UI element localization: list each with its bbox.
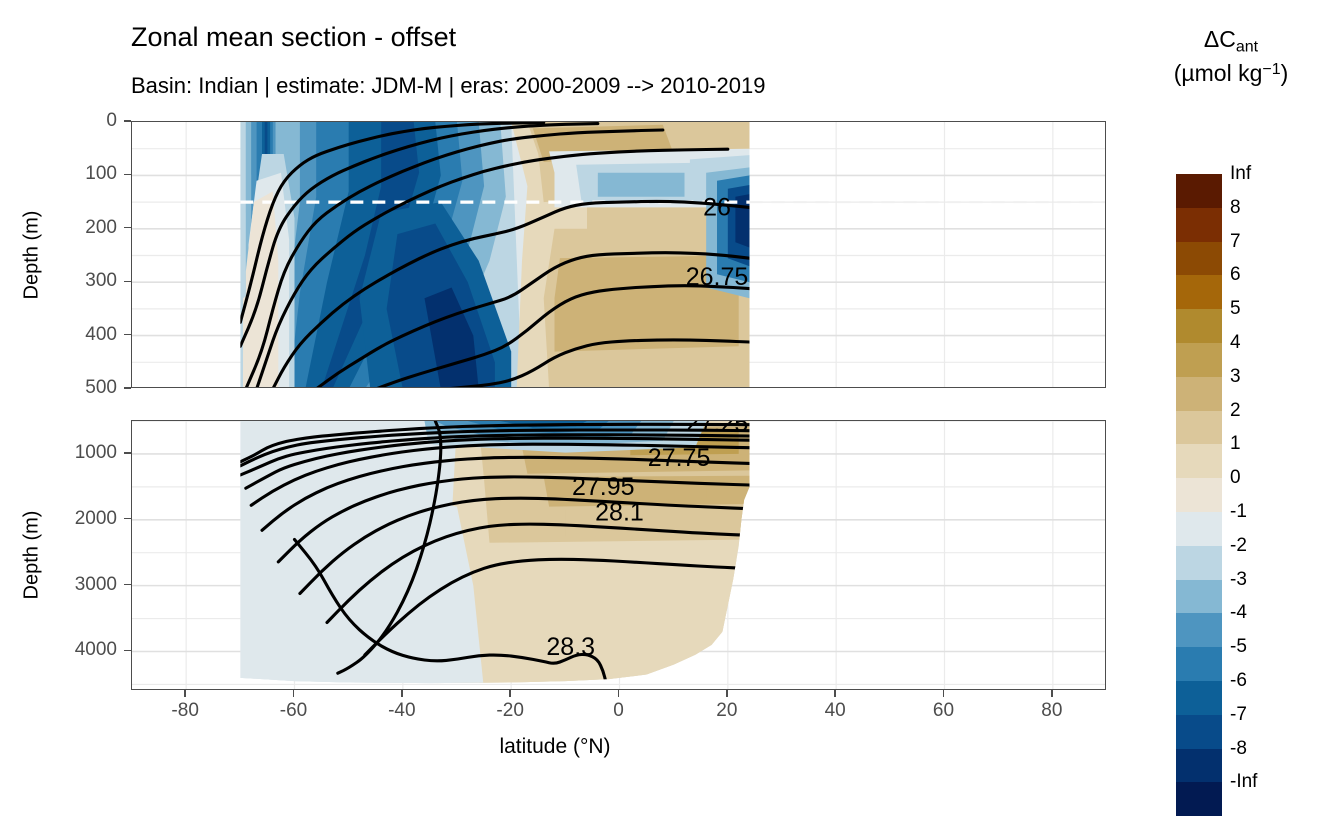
y-tick-lower: [124, 452, 131, 453]
legend-units-exponent: −1: [1262, 60, 1280, 77]
x-tick: [1051, 690, 1052, 697]
legend-label: -Inf: [1230, 771, 1257, 793]
legend-label: -3: [1230, 569, 1247, 591]
y-tick-label-lower: 4000: [0, 639, 117, 661]
panel-upper-depth: 2626.75: [131, 121, 1106, 388]
legend-label: 2: [1230, 400, 1241, 422]
y-tick-upper: [124, 174, 131, 175]
page-title: Zonal mean section - offset: [131, 22, 456, 53]
legend-label: -6: [1230, 670, 1247, 692]
y-axis-title-upper: Depth (m): [21, 210, 44, 299]
contour-label: 27.95: [572, 473, 635, 501]
legend-swatch: [1176, 647, 1222, 681]
y-tick-label-upper: 400: [0, 324, 117, 346]
chart-subtitle: Basin: Indian | estimate: JDM-M | eras: …: [131, 73, 765, 99]
legend-label: 0: [1230, 467, 1241, 489]
y-axis-title-lower: Depth (m): [21, 511, 44, 600]
y-tick-upper: [124, 387, 131, 388]
legend-label: 8: [1230, 197, 1241, 219]
contour-band: [598, 173, 685, 197]
legend-label: -7: [1230, 704, 1247, 726]
legend-title-delta: ΔC: [1204, 26, 1236, 52]
legend-swatch: [1176, 343, 1222, 377]
x-tick-label: -60: [280, 700, 307, 722]
legend-swatch: [1176, 309, 1222, 343]
legend-swatch: [1176, 613, 1222, 647]
legend-swatch: [1176, 242, 1222, 276]
y-tick-lower: [124, 518, 131, 519]
contour-label: 28.3: [546, 633, 595, 661]
x-tick: [401, 690, 402, 697]
y-tick-label-upper: 200: [0, 217, 117, 239]
legend-swatch: [1176, 580, 1222, 614]
y-tick-label-upper: 100: [0, 163, 117, 185]
y-tick-upper: [124, 281, 131, 282]
legend-label: -5: [1230, 636, 1247, 658]
legend-label: -1: [1230, 501, 1247, 523]
upper-field-group: [240, 122, 749, 388]
x-tick: [943, 690, 944, 697]
x-tick-label: -40: [388, 700, 415, 722]
x-axis-title: latitude (°N): [0, 735, 1110, 759]
legend-label: -2: [1230, 535, 1247, 557]
y-tick-label-lower: 1000: [0, 442, 117, 464]
legend-label: -8: [1230, 738, 1247, 760]
legend-units-post: ): [1281, 60, 1289, 86]
y-tick-label-upper: 500: [0, 377, 117, 399]
x-tick: [293, 690, 294, 697]
contour-label: 27.25: [686, 421, 749, 438]
x-tick-label: -80: [171, 700, 198, 722]
legend: ΔCant (µmol kg−1) Inf876543210-1-2-3-4-5…: [1126, 24, 1336, 88]
legend-label: 6: [1230, 264, 1241, 286]
y-tick-label-upper: 300: [0, 270, 117, 292]
legend-swatch: [1176, 782, 1222, 816]
y-tick-lower: [124, 584, 131, 585]
legend-units-pre: (µmol kg: [1174, 60, 1263, 86]
legend-swatch: [1176, 377, 1222, 411]
y-tick-upper: [124, 334, 131, 335]
chart-root: Zonal mean section - offset Basin: India…: [0, 0, 1344, 806]
legend-label: 4: [1230, 332, 1241, 354]
legend-swatch: [1176, 512, 1222, 546]
legend-label: 1: [1230, 433, 1241, 455]
upper-section-field: 2626.75: [132, 122, 1106, 388]
y-tick-label-lower: 2000: [0, 508, 117, 530]
y-tick-upper: [124, 120, 131, 121]
y-tick-lower: [124, 650, 131, 651]
legend-label: 5: [1230, 298, 1241, 320]
contour-label: 26: [703, 193, 731, 221]
legend-swatch: [1176, 546, 1222, 580]
panel-lower-depth: 27.2527.7527.9528.128.3: [131, 420, 1106, 690]
legend-swatch: [1176, 478, 1222, 512]
y-tick-upper: [124, 227, 131, 228]
legend-swatch: [1176, 208, 1222, 242]
legend-label: 3: [1230, 366, 1241, 388]
x-tick-label: 20: [716, 700, 737, 722]
legend-colorbar: [1176, 174, 1222, 816]
x-tick: [726, 690, 727, 697]
x-tick: [509, 690, 510, 697]
x-tick-label: 80: [1041, 700, 1062, 722]
x-tick-label: 40: [825, 700, 846, 722]
legend-label: Inf: [1230, 163, 1251, 185]
legend-title: ΔCant (µmol kg−1): [1126, 24, 1336, 88]
legend-swatch: [1176, 715, 1222, 749]
x-tick: [834, 690, 835, 697]
legend-swatch: [1176, 444, 1222, 478]
x-tick-label: 0: [613, 700, 624, 722]
legend-swatch: [1176, 749, 1222, 783]
contour-label: 26.75: [686, 263, 749, 291]
contour-band: [479, 559, 750, 690]
contour-label: 27.75: [648, 444, 711, 472]
x-tick-label: 60: [933, 700, 954, 722]
x-tick: [184, 690, 185, 697]
x-tick: [618, 690, 619, 697]
y-tick-label-upper: 0: [0, 110, 117, 132]
legend-label: 7: [1230, 231, 1241, 253]
contour-label: 28.1: [595, 498, 644, 526]
legend-swatch: [1176, 174, 1222, 208]
lower-section-field: 27.2527.7527.9528.128.3: [132, 421, 1106, 690]
legend-swatch: [1176, 275, 1222, 309]
legend-swatch: [1176, 681, 1222, 715]
legend-swatch: [1176, 411, 1222, 445]
y-tick-label-lower: 3000: [0, 574, 117, 596]
x-tick-label: -20: [496, 700, 523, 722]
legend-title-subscript: ant: [1236, 38, 1258, 55]
legend-label: -4: [1230, 602, 1247, 624]
